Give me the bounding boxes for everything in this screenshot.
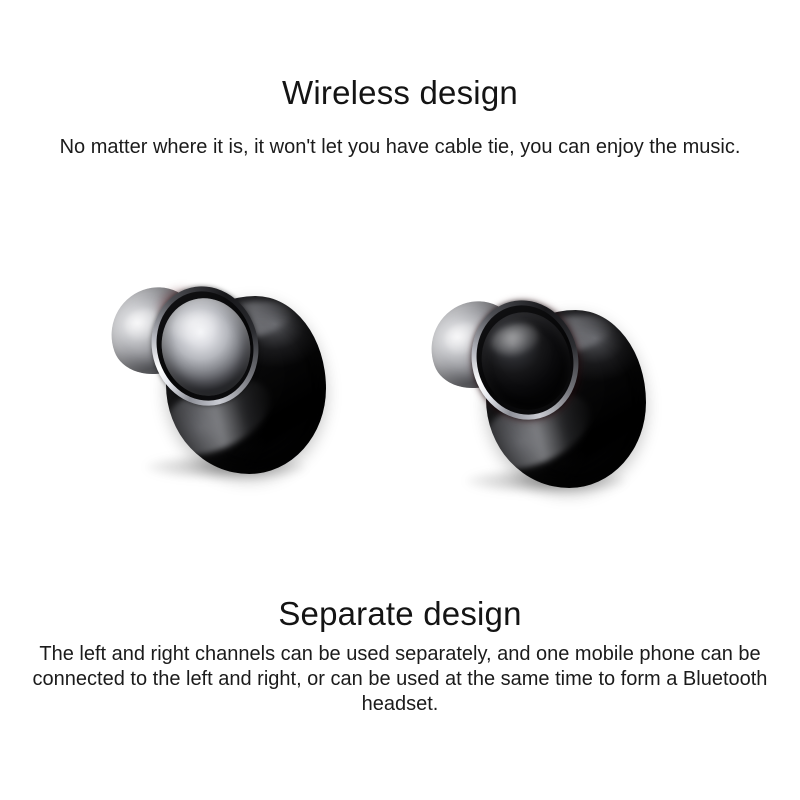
wireless-design-heading: Wireless design: [0, 74, 800, 112]
right-earbud: [428, 274, 658, 504]
product-feature-page: Wireless design No matter where it is, i…: [0, 0, 800, 800]
earbuds-product-image: [0, 240, 800, 510]
separate-design-heading: Separate design: [0, 595, 800, 633]
left-earbud: [108, 260, 338, 490]
separate-design-description: The left and right channels can be used …: [22, 642, 778, 717]
wireless-design-description: No matter where it is, it won't let you …: [55, 135, 745, 160]
